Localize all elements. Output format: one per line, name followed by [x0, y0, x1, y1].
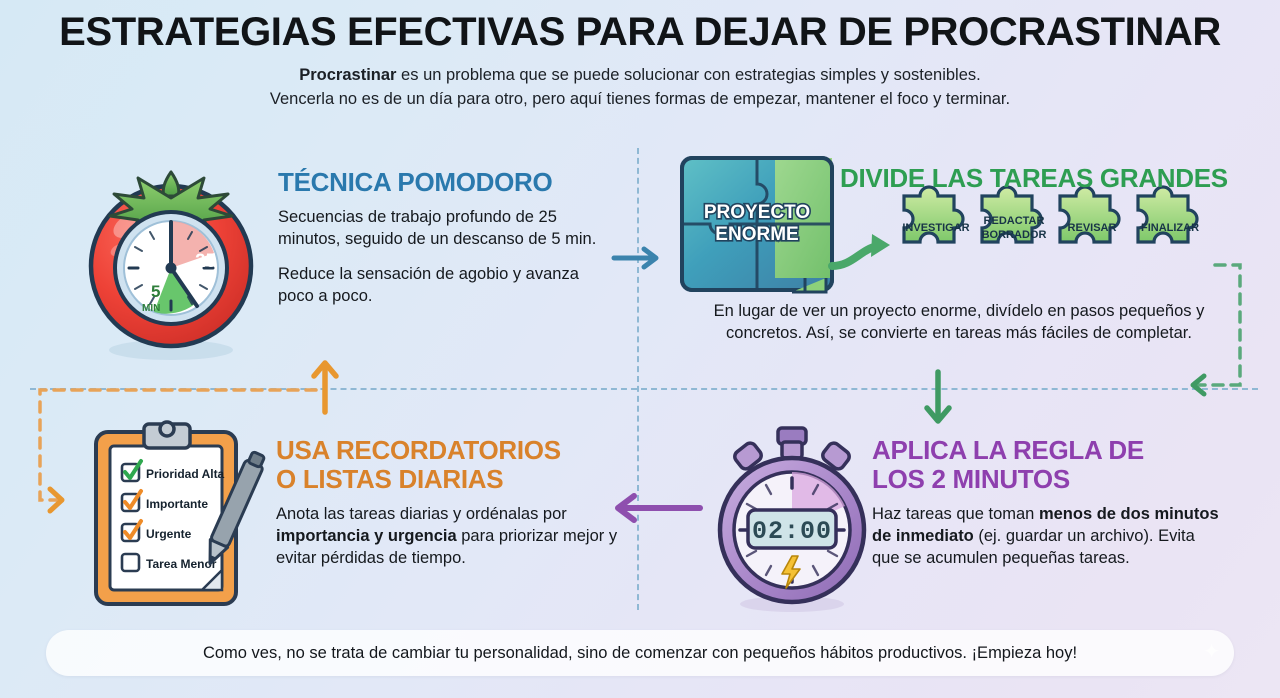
two-minutes-para-a: Haz tareas que toman [872, 505, 1039, 523]
reminders-heading: USA RECORDATORIOS O LISTAS DIARIAS [276, 436, 621, 494]
subtitle-line1-rest: es un problema que se puede solucionar c… [396, 66, 980, 84]
pomodoro-break-unit: MIN [142, 303, 160, 314]
pomodoro-text: TÉCNICA POMODORO Secuencias de trabajo p… [278, 168, 618, 308]
big-project-label-2: ENORME [715, 224, 798, 245]
reminders-heading-line1: USA RECORDATORIOS [276, 436, 621, 465]
pomodoro-para-2: Reduce la sensación de agobio y avanza p… [278, 263, 618, 307]
two-minutes-heading-line1: APLICA LA REGLA DE [872, 436, 1222, 465]
pomodoro-work-value: 25 [195, 251, 217, 272]
sparkle-icon: ✦ [1203, 639, 1220, 664]
puzzle-piece: REDACTAR BORRADOR [982, 187, 1047, 242]
reminders-para-a: Anota las tareas diarias y ordénalas por [276, 505, 567, 523]
section-divide-tasks: PROYECTO ENORME INVESTIGAR REDACTAR BORR… [672, 150, 1244, 375]
reminders-heading-line2: O LISTAS DIARIAS [276, 465, 621, 494]
section-pomodoro: 25 MIN 5 MIN TÉCNICA POMODORO Secuencias… [66, 158, 626, 373]
divide-para-1: En lugar de ver un proyecto enorme, diví… [694, 300, 1224, 344]
horizontal-divider [30, 388, 1258, 390]
stopwatch-icon: 02:00 [700, 424, 885, 614]
section-reminders: Prioridad Alta Importante Urgente Tarea … [66, 424, 626, 624]
two-minutes-heading: APLICA LA REGLA DE LOS 2 MINUTOS [872, 436, 1222, 494]
reminders-para-bold: importancia y urgencia [276, 527, 457, 545]
checklist-label: Prioridad Alta [146, 467, 225, 481]
piece-label-line1: REDACTAR [984, 215, 1045, 227]
subtitle-keyword: Procrastinar [299, 66, 396, 84]
divide-heading: DIVIDE LAS TAREAS GRANDES [840, 164, 1228, 193]
divide-body: En lugar de ver un proyecto enorme, diví… [694, 300, 1224, 344]
piece-label: INVESTIGAR [902, 222, 969, 234]
piece-label: FINALIZAR [1141, 222, 1199, 234]
pomodoro-work-unit: MIN [196, 273, 215, 285]
pomodoro-break-value: 5 [151, 282, 160, 301]
pomodoro-para-1: Secuencias de trabajo profundo de 25 min… [278, 206, 618, 250]
checklist-label: Tarea Menor [146, 557, 217, 571]
piece-label-line2: BORRADOR [982, 229, 1047, 241]
footer-banner: Como ves, no se trata de cambiar tu pers… [46, 630, 1234, 676]
vertical-divider [637, 148, 639, 610]
page-title: ESTRATEGIAS EFECTIVAS PARA DEJAR DE PROC… [0, 10, 1280, 54]
puzzle-piece: FINALIZAR [1138, 187, 1199, 242]
two-minutes-text: APLICA LA REGLA DE LOS 2 MINUTOS Haz tar… [872, 436, 1222, 570]
big-project-block: PROYECTO ENORME [682, 158, 832, 292]
reminders-body: Anota las tareas diarias y ordénalas por… [276, 503, 621, 569]
puzzle-piece: REVISAR [1060, 187, 1119, 242]
stopwatch-display: 02:00 [752, 517, 832, 546]
footer-text: Como ves, no se trata de cambiar tu pers… [203, 644, 1077, 663]
header: ESTRATEGIAS EFECTIVAS PARA DEJAR DE PROC… [0, 10, 1280, 112]
puzzle-piece: INVESTIGAR [902, 187, 969, 242]
reminders-text: USA RECORDATORIOS O LISTAS DIARIAS Anota… [276, 436, 621, 570]
infographic-canvas: ESTRATEGIAS EFECTIVAS PARA DEJAR DE PROC… [0, 0, 1280, 698]
tomato-timer-icon: 25 MIN 5 MIN [66, 164, 276, 364]
checklist-item[interactable]: Tarea Menor [122, 554, 217, 571]
piece-label: REVISAR [1068, 222, 1117, 234]
big-project-label-1: PROYECTO [704, 202, 810, 223]
checklist-label: Importante [146, 497, 208, 511]
clipboard-checklist-icon: Prioridad Alta Importante Urgente Tarea … [80, 420, 280, 610]
pomodoro-heading: TÉCNICA POMODORO [278, 168, 618, 197]
pomodoro-body: Secuencias de trabajo profundo de 25 min… [278, 206, 618, 307]
section-two-minute-rule: 02:00 APLICA LA REGLA DE LOS 2 MINUTOS H… [660, 424, 1240, 624]
curved-arrow-right-icon [832, 234, 890, 266]
header-subtitle: Procrastinar es un problema que se puede… [0, 64, 1280, 112]
checklist-label: Urgente [146, 527, 192, 541]
two-minutes-heading-line2: LOS 2 MINUTOS [872, 465, 1222, 494]
green-arrow-down-icon [927, 372, 949, 421]
subtitle-line2: Vencerla no es de un día para otro, pero… [0, 88, 1280, 112]
two-minutes-body: Haz tareas que toman menos de dos minuto… [872, 503, 1222, 569]
